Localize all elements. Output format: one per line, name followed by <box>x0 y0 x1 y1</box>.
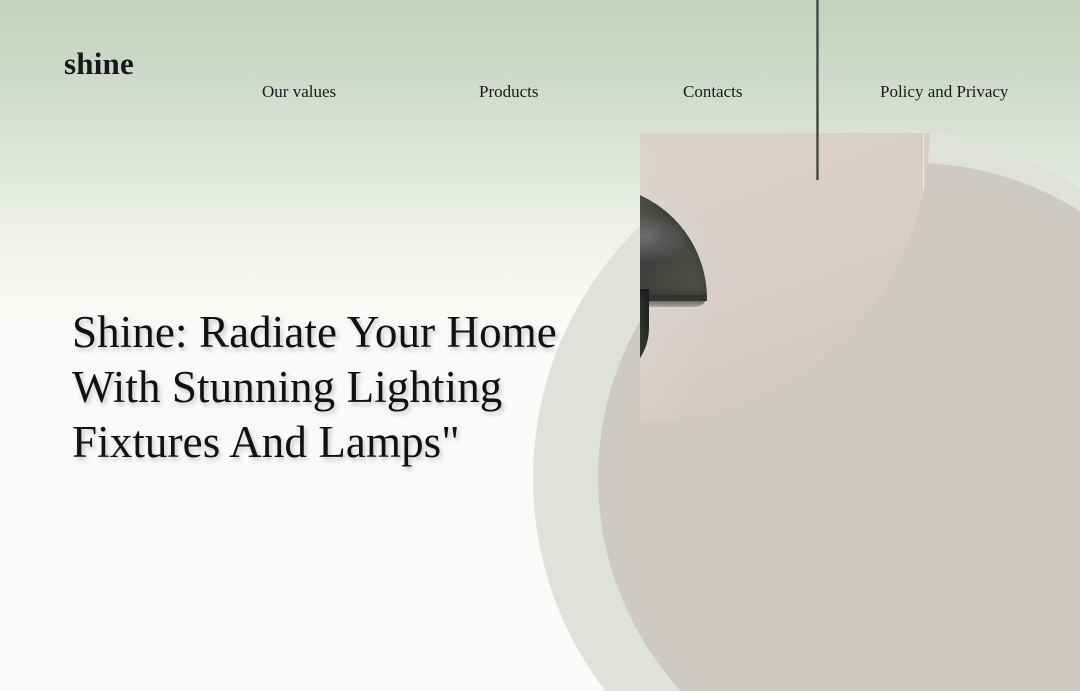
hero-section: Shine: Radiate Your Home With Stunning L… <box>72 305 712 470</box>
site-header: shine Our values Products Contacts Polic… <box>0 0 1080 122</box>
hero-heading: Shine: Radiate Your Home With Stunning L… <box>72 305 712 470</box>
hero-heading-line: Fixtures And Lamps" <box>72 415 712 470</box>
nav-item-policy-and-privacy[interactable]: Policy and Privacy <box>880 83 1008 100</box>
nav-item-products[interactable]: Products <box>479 83 539 100</box>
main-navigation: Our values Products Contacts Policy and … <box>0 0 1080 122</box>
photo-headboard <box>917 477 1064 691</box>
nav-item-contacts[interactable]: Contacts <box>683 83 743 100</box>
nav-item-our-values[interactable]: Our values <box>262 83 336 100</box>
photo-bubble-candle <box>703 585 791 671</box>
hero-heading-line: Shine: Radiate Your Home <box>72 305 712 360</box>
page-root: shine Our values Products Contacts Polic… <box>0 0 1080 691</box>
hero-heading-line: With Stunning Lighting <box>72 360 712 415</box>
